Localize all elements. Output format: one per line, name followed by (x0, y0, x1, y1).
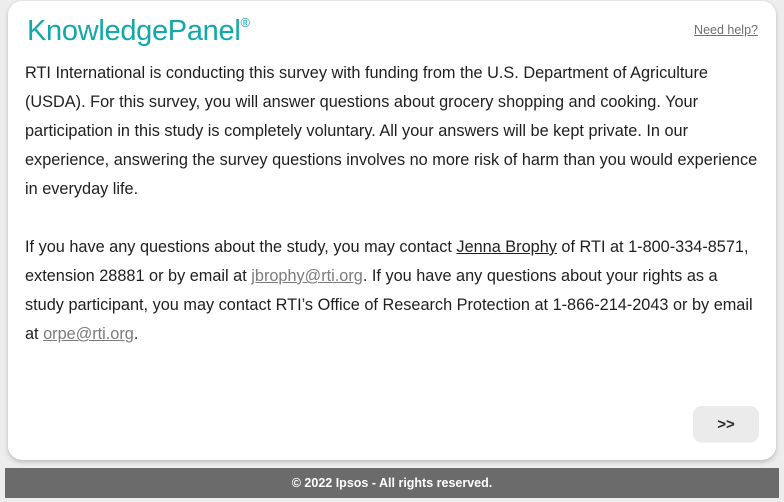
consent-paragraph-1: RTI International is conducting this sur… (25, 59, 759, 204)
brand-name: KnowledgePanel (27, 15, 240, 47)
contact-name-link[interactable]: Jenna Brophy (456, 238, 556, 256)
need-help-link[interactable]: Need help? (694, 23, 758, 37)
paragraph2-segment-4: . (134, 325, 139, 343)
survey-card: KnowledgePanel® Need help? RTI Internati… (8, 1, 776, 460)
card-header: KnowledgePanel® Need help? (17, 1, 767, 59)
email-link-orpe[interactable]: orpe@rti.org (43, 325, 134, 343)
knowledgepanel-logo: KnowledgePanel® (27, 17, 250, 46)
survey-card-inner: KnowledgePanel® Need help? RTI Internati… (8, 1, 776, 460)
survey-page: KnowledgePanel® Need help? RTI Internati… (0, 0, 784, 502)
next-button[interactable]: >> (693, 406, 759, 442)
consent-text: RTI International is conducting this sur… (17, 59, 767, 349)
paragraph2-segment-1: If you have any questions about the stud… (25, 238, 456, 256)
registered-trademark-icon: ® (240, 15, 249, 30)
email-link-jbrophy[interactable]: jbrophy@rti.org (251, 267, 363, 285)
footer-bar: © 2022 Ipsos - All rights reserved. (5, 468, 779, 498)
consent-paragraph-2: If you have any questions about the stud… (25, 233, 759, 349)
copyright-text: © 2022 Ipsos - All rights reserved. (292, 476, 493, 490)
